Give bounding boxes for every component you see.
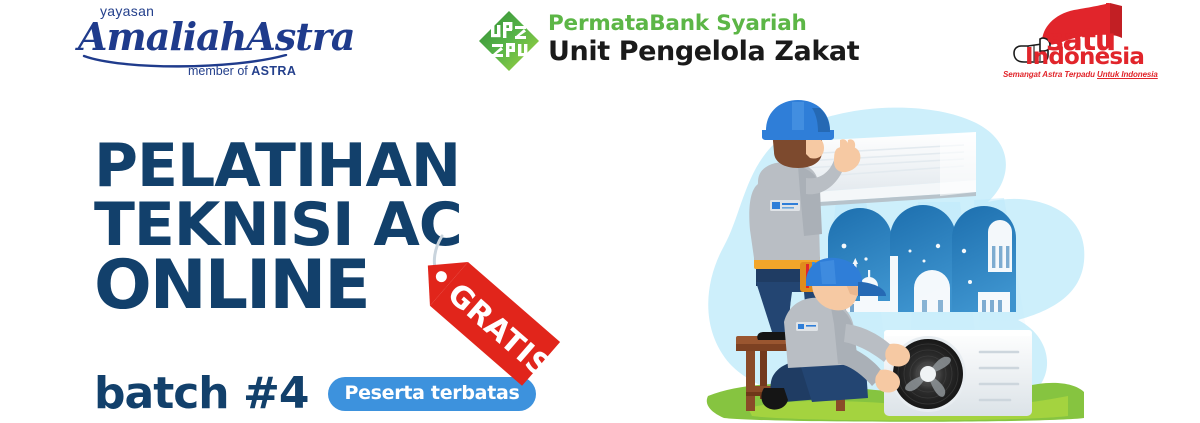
satu-tagline-underlined: Untuk Indonesia — [1097, 70, 1158, 79]
amaliah-member-brand: ASTRA — [251, 64, 296, 78]
illustration-ac-technicians — [688, 96, 1200, 423]
window-3 — [952, 206, 1016, 312]
window-2 — [890, 205, 956, 312]
headline-line-3: ONLINE — [94, 256, 462, 316]
satu-tagline: Semangat Astra Terpadu Untuk Indonesia — [1003, 70, 1158, 79]
amaliah-script-wordmark: AmaliahAstra — [78, 14, 355, 59]
uniform-logo-patch-2 — [796, 322, 818, 331]
headline-line-1: PELATIHAN — [94, 140, 462, 193]
headline-line-2: TEKNISI AC — [94, 199, 462, 252]
tag-hole — [434, 269, 450, 285]
permata-line1: PermataBank Syariah — [548, 11, 807, 36]
outdoor-condenser-unit — [884, 330, 1032, 416]
permata-line2: Unit Pengelola Zakat — [548, 36, 859, 67]
batch-label: batch #4 — [94, 372, 308, 416]
batch-row: batch #4 Peserta terbatas — [94, 372, 536, 416]
headline-block: PELATIHAN TEKNISI AC ONLINE — [94, 140, 462, 315]
logo-satu-indonesia: satu Indonesia Semangat Astra Terpadu Un… — [998, 2, 1148, 86]
amaliah-member-text: member of ASTRA — [188, 64, 296, 78]
amaliah-member-prefix: member of — [188, 64, 251, 78]
promo-banner: yayasan AmaliahAstra member of ASTRA — [0, 0, 1200, 423]
gratis-price-tag: GRATIS — [430, 228, 600, 378]
satu-tagline-plain: Semangat Astra Terpadu — [1003, 70, 1097, 79]
logo-row: yayasan AmaliahAstra member of ASTRA — [0, 0, 1200, 95]
indonesia-word: Indonesia — [1025, 46, 1144, 69]
upz-diamond-icon — [478, 10, 540, 72]
logo-permatabank-syariah-upz: PermataBank Syariah Unit Pengelola Zakat — [478, 8, 808, 78]
logo-yayasan-amaliah-astra: yayasan AmaliahAstra member of ASTRA — [78, 2, 318, 84]
uniform-logo-patch — [770, 200, 800, 211]
peserta-terbatas-badge: Peserta terbatas — [328, 377, 535, 411]
